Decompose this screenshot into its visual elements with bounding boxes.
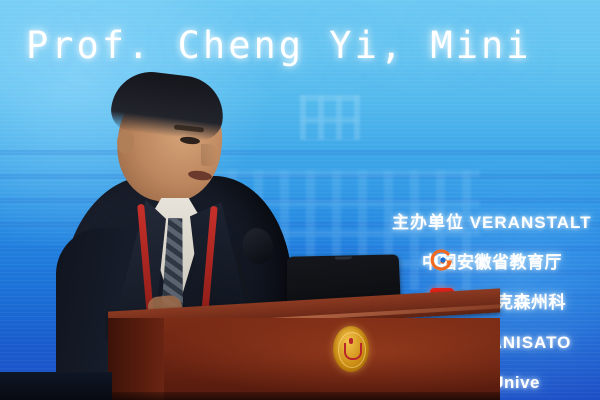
eteach-logo-icon	[428, 247, 454, 273]
university-crest-emblem	[333, 326, 369, 372]
speaker-ear	[117, 130, 134, 154]
speaker-nose	[201, 144, 217, 166]
page-title: Prof. Cheng Yi, Mini	[26, 24, 532, 67]
crest-u-shape	[344, 343, 362, 360]
podium-front-panel	[108, 318, 500, 400]
laptop-hinge-notch	[334, 256, 352, 259]
conference-photo-scene: Prof. Cheng Yi, Mini 主办单位 VERANSTALT 中国安…	[0, 0, 600, 400]
podium-side-panel	[108, 318, 164, 400]
sponsor-heading-label: 主办单位 VERANSTALT	[370, 208, 591, 233]
sponsor-heading-organizers: 主办单位 VERANSTALT	[370, 200, 600, 240]
podium-base-shadow	[108, 392, 500, 400]
foreground-floor	[0, 372, 112, 400]
sponsor-entry-anhui: 中国安徽省教育厅	[370, 240, 600, 280]
